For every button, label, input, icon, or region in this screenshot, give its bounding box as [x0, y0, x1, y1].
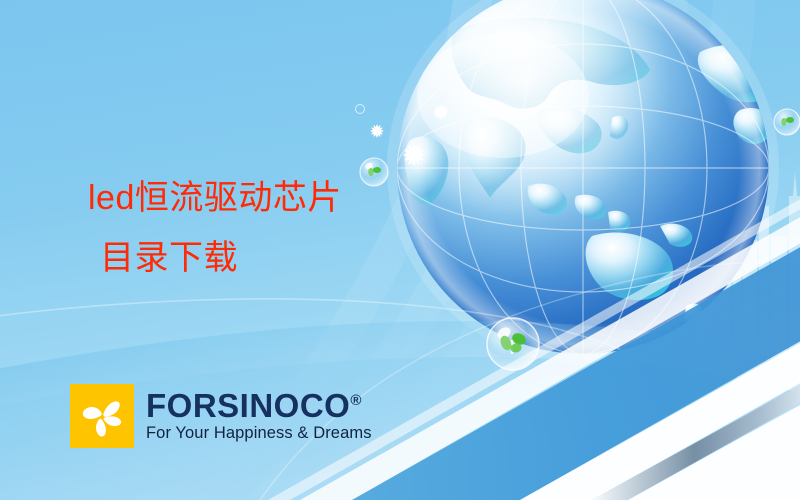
logo-tagline: For Your Happiness & Dreams [146, 424, 372, 443]
headline-line-2: 目录下载 [88, 228, 342, 288]
headline-line-1: led恒流驱动芯片 [88, 179, 342, 217]
headline-text: led恒流驱动芯片 目录下载 [88, 168, 342, 288]
logo-wordmark: FORSINOCO® [146, 389, 372, 423]
promo-banner: led恒流驱动芯片 目录下载 FORSINOCO® For Your Happi… [0, 0, 800, 500]
forsinoco-pinwheel-mark [70, 384, 134, 448]
bubble-small [360, 158, 388, 186]
bubble-large [487, 318, 539, 370]
logo-text-block: FORSINOCO® For Your Happiness & Dreams [146, 389, 372, 443]
bubble-corner [774, 109, 800, 135]
pinwheel-icon [70, 384, 134, 448]
logo-wordmark-text: FORSINOCO [146, 387, 350, 424]
registered-trademark-icon: ® [350, 392, 362, 409]
forsinoco-logo[interactable]: FORSINOCO® For Your Happiness & Dreams [70, 384, 372, 448]
